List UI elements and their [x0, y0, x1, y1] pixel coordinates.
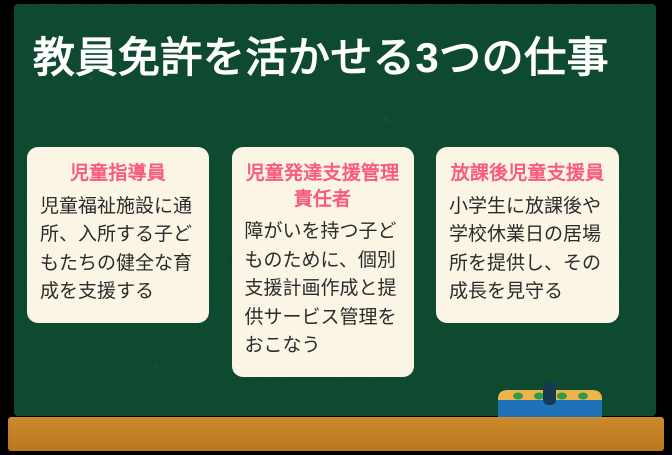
chalk-tray-ledge: [8, 417, 664, 451]
job-card-list: 児童指導員 児童福祉施設に通所、入所する子どもたちの健全な育成を支援する 児童発…: [27, 147, 619, 377]
job-card-1: 児童指導員 児童福祉施設に通所、入所する子どもたちの健全な育成を支援する: [27, 147, 209, 323]
job-card-3-heading: 放課後児童支援員: [449, 161, 606, 187]
job-card-1-heading: 児童指導員: [40, 161, 196, 187]
chalkboard-poster: 教員免許を活かせる3つの仕事 児童指導員 児童福祉施設に通所、入所する子どもたち…: [0, 0, 672, 455]
page-title: 教員免許を活かせる3つの仕事: [0, 32, 642, 85]
job-card-1-body: 児童福祉施設に通所、入所する子どもたちの健全な育成を支援する: [40, 193, 196, 307]
job-card-2-body: 障がいを持つ子どものために、個別支援計画作成と提供サービス管理をおこなう: [245, 218, 401, 361]
blackboard-eraser-icon: [491, 382, 609, 418]
job-card-2: 児童発達支援管理責任者 障がいを持つ子どものために、個別支援計画作成と提供サービ…: [232, 147, 414, 377]
job-card-3-body: 小学生に放課後や学校休業日の居場所を提供し、その成長を見守る: [449, 193, 606, 307]
job-card-3: 放課後児童支援員 小学生に放課後や学校休業日の居場所を提供し、その成長を見守る: [436, 147, 619, 323]
job-card-2-heading: 児童発達支援管理責任者: [245, 161, 401, 212]
